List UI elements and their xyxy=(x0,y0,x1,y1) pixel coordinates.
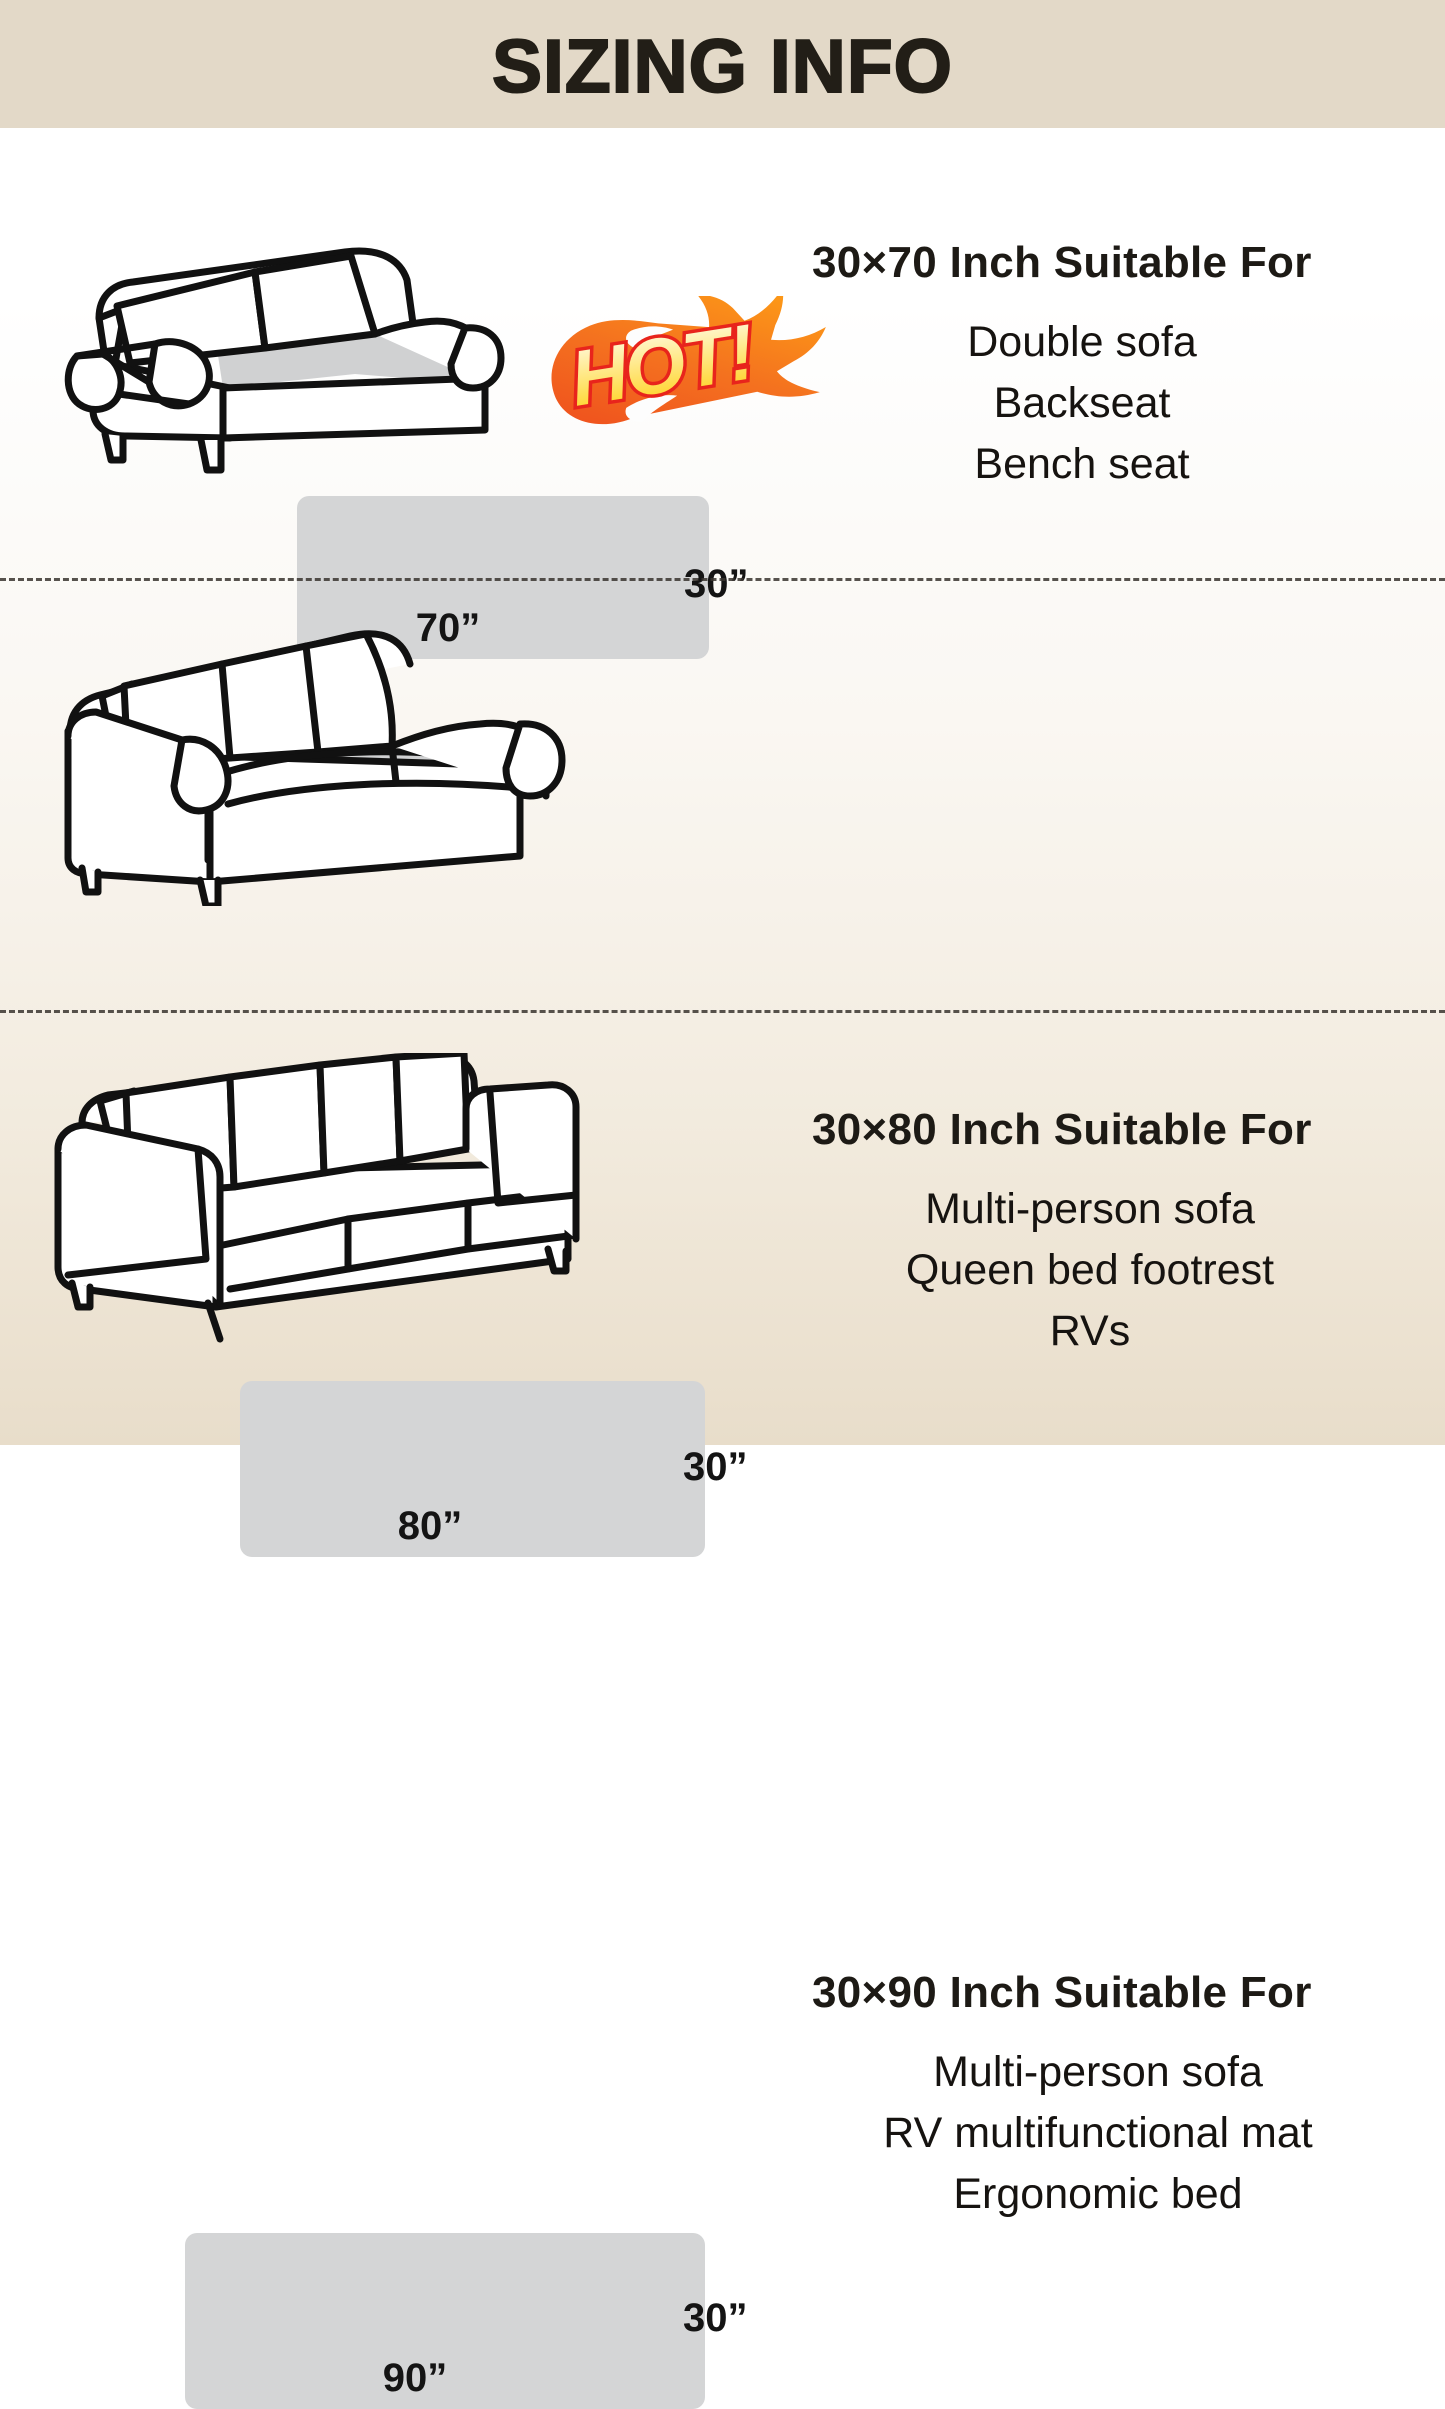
section-30x90: 90” 30” 30×90 Inch Suitable For Multi-pe… xyxy=(0,1013,1445,1445)
copy-block-30x70: 30×70 Inch Suitable For Double sofa Back… xyxy=(812,238,1352,495)
header-band: SIZING INFO xyxy=(0,0,1445,128)
width-label-90: 90” xyxy=(125,2356,705,2401)
use-case-item: RV multifunctional mat xyxy=(812,2103,1384,2164)
use-case-item: Backseat xyxy=(812,373,1352,434)
sofa-illustration-2-seat xyxy=(55,188,525,488)
hot-badge: HOT! xyxy=(543,296,833,426)
sizing-info-infographic: SIZING INFO xyxy=(0,0,1445,1445)
measure-rect-30x90: 90” xyxy=(185,2233,705,2409)
width-label-80: 80” xyxy=(155,1504,705,1549)
size-heading-30x70: 30×70 Inch Suitable For xyxy=(812,238,1352,288)
use-case-item: Ergonomic bed xyxy=(812,2164,1384,2225)
copy-block-30x90: 30×90 Inch Suitable For Multi-person sof… xyxy=(812,1968,1384,2225)
use-case-item: Bench seat xyxy=(812,434,1352,495)
section-30x80: 80” 30” 30×80 Inch Suitable For Multi-pe… xyxy=(0,581,1445,1010)
size-heading-30x90: 30×90 Inch Suitable For xyxy=(812,1968,1384,2018)
use-case-list-30x70: Double sofa Backseat Bench seat xyxy=(812,312,1352,495)
page-title: SIZING INFO xyxy=(0,27,1445,105)
use-case-item: Multi-person sofa xyxy=(812,2042,1384,2103)
use-case-list-30x90: Multi-person sofa RV multifunctional mat… xyxy=(812,2042,1384,2225)
use-case-item: Double sofa xyxy=(812,312,1352,373)
sofa-illustration-3-seat xyxy=(50,606,580,906)
height-label-30: 30” xyxy=(683,2296,748,2341)
sofa-illustration-4-seat xyxy=(48,1053,608,1353)
section-30x70: HOT! 70” 30” 30×70 Inch Suitable For Dou… xyxy=(0,128,1445,578)
height-label-30: 30” xyxy=(683,1445,748,1490)
